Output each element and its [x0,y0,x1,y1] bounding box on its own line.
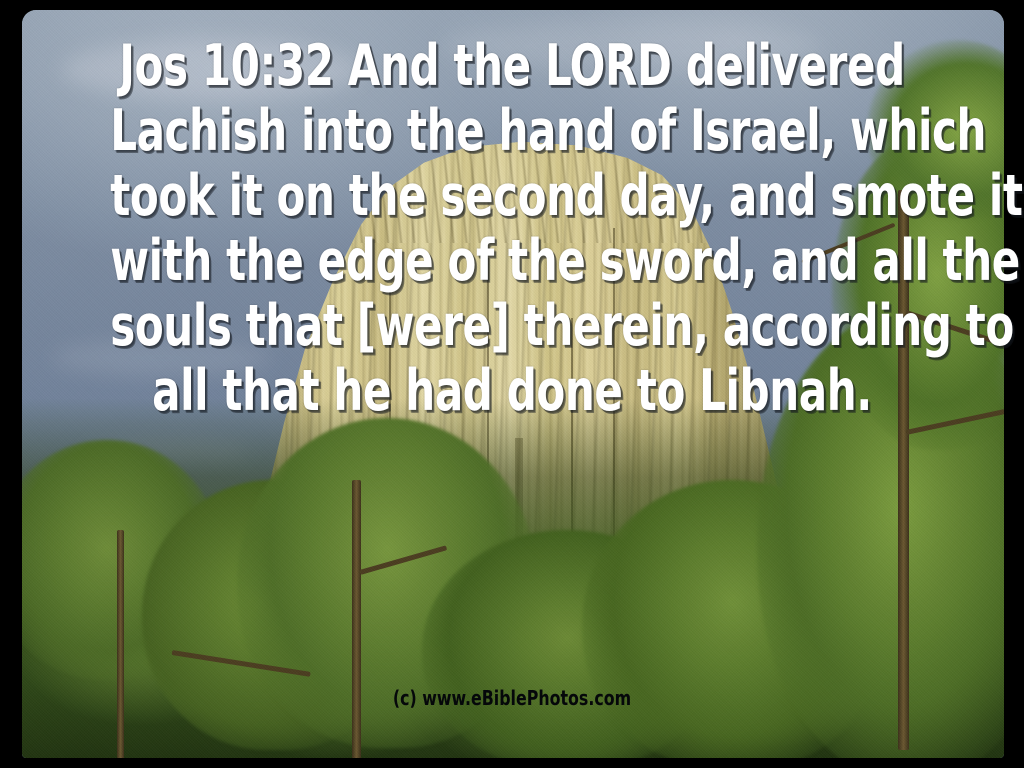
cloud-wisp [62,40,362,100]
tree-trunk [898,190,909,750]
tree-trunk [117,530,124,758]
bible-verse-slide: Jos 10:32 And the LORD delivered Lachish… [0,0,1024,768]
cloud-wisp [52,340,272,376]
background-photograph [22,10,1004,758]
tree-trunk [352,480,361,758]
cloud-wisp [442,22,822,70]
